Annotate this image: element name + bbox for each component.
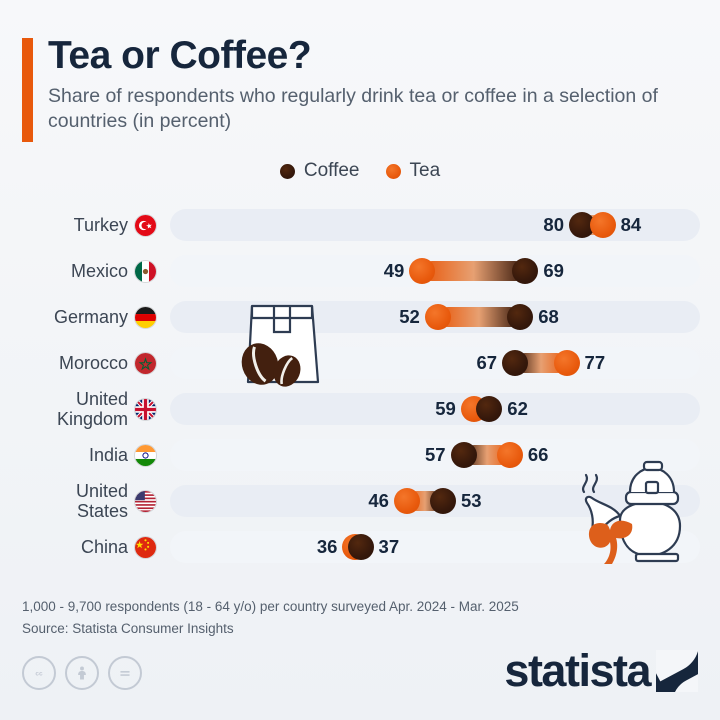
statista-mark-icon: [656, 650, 698, 692]
flag-morocco-icon: [134, 352, 157, 375]
country-label: Mexico: [0, 248, 128, 294]
statista-wordmark: statista: [504, 648, 650, 693]
country-label: China: [0, 524, 128, 570]
row-track: [170, 531, 700, 563]
legend-label-coffee: Coffee: [304, 160, 360, 182]
connector-bar: [422, 261, 525, 281]
marker-dot-tea[interactable]: [425, 304, 451, 330]
flag-china-icon: [134, 536, 157, 559]
flag-usa-icon: [134, 490, 157, 513]
row-track: [170, 347, 700, 379]
table-row[interactable]: UnitedKingdom5962: [0, 386, 720, 432]
marker-dot-coffee[interactable]: [502, 350, 528, 376]
legend-item-coffee[interactable]: Coffee: [280, 160, 360, 182]
marker-dot-coffee[interactable]: [451, 442, 477, 468]
table-row[interactable]: India5766: [0, 432, 720, 478]
tea-dot-icon: [386, 164, 401, 179]
marker-dot-tea[interactable]: [394, 488, 420, 514]
marker-dot-coffee[interactable]: [507, 304, 533, 330]
dumbbell-chart: Turkey8084Mexico4969Germany5268Morocco67…: [0, 202, 720, 572]
table-row[interactable]: Mexico4969: [0, 248, 720, 294]
value-label-left: 49: [384, 259, 410, 283]
attribution-person-icon: [65, 656, 99, 690]
value-label-left: 59: [435, 397, 461, 421]
table-row[interactable]: Morocco6777: [0, 340, 720, 386]
page-subtitle: Share of respondents who regularly drink…: [22, 84, 688, 134]
country-label: India: [0, 432, 128, 478]
marker-dot-coffee[interactable]: [430, 488, 456, 514]
value-label-left: 67: [476, 351, 502, 375]
country-label: Morocco: [0, 340, 128, 386]
no-derivatives-equals-icon: [108, 656, 142, 690]
footer: 1,000 - 9,700 respondents (18 - 64 y/o) …: [22, 596, 700, 640]
legend-label-tea: Tea: [410, 160, 441, 182]
flag-india-icon: [134, 444, 157, 467]
value-label-left: 80: [543, 213, 569, 237]
header: Tea or Coffee? Share of respondents who …: [22, 34, 700, 134]
footer-note: 1,000 - 9,700 respondents (18 - 64 y/o) …: [22, 596, 700, 618]
value-label-right: 77: [580, 351, 606, 375]
marker-dot-tea[interactable]: [497, 442, 523, 468]
coffee-dot-icon: [280, 164, 295, 179]
flag-uk-icon: [134, 398, 157, 421]
page-title: Tea or Coffee?: [22, 34, 700, 78]
flag-mexico-icon: [134, 260, 157, 283]
flag-turkey-icon: [134, 214, 157, 237]
table-row[interactable]: Germany5268: [0, 294, 720, 340]
value-label-left: 36: [317, 535, 343, 559]
marker-dot-tea[interactable]: [554, 350, 580, 376]
infographic-poster: Tea or Coffee? Share of respondents who …: [0, 0, 720, 720]
marker-dot-coffee[interactable]: [348, 534, 374, 560]
table-row[interactable]: UnitedStates4653: [0, 478, 720, 524]
value-label-right: 69: [538, 259, 564, 283]
country-label: UnitedKingdom: [0, 386, 128, 432]
value-label-right: 84: [616, 213, 642, 237]
value-label-left: 46: [368, 489, 394, 513]
cc-icon: cc: [22, 656, 56, 690]
value-label-right: 37: [374, 535, 400, 559]
svg-text:cc: cc: [35, 670, 43, 677]
statista-logo[interactable]: statista: [504, 648, 698, 693]
value-label-right: 62: [502, 397, 528, 421]
value-label-right: 68: [533, 305, 559, 329]
country-label: Germany: [0, 294, 128, 340]
country-label: UnitedStates: [0, 478, 128, 524]
table-row[interactable]: Turkey8084: [0, 202, 720, 248]
creative-commons-badges: cc: [22, 656, 142, 690]
accent-bar: [22, 38, 33, 142]
legend-item-tea[interactable]: Tea: [386, 160, 441, 182]
value-label-left: 57: [425, 443, 451, 467]
value-label-right: 66: [523, 443, 549, 467]
chart-legend: Coffee Tea: [0, 160, 720, 182]
country-label: Turkey: [0, 202, 128, 248]
value-label-right: 53: [456, 489, 482, 513]
value-label-left: 52: [399, 305, 425, 329]
marker-dot-tea[interactable]: [590, 212, 616, 238]
flag-germany-icon: [134, 306, 157, 329]
table-row[interactable]: China3637: [0, 524, 720, 570]
footer-source: Source: Statista Consumer Insights: [22, 618, 700, 640]
